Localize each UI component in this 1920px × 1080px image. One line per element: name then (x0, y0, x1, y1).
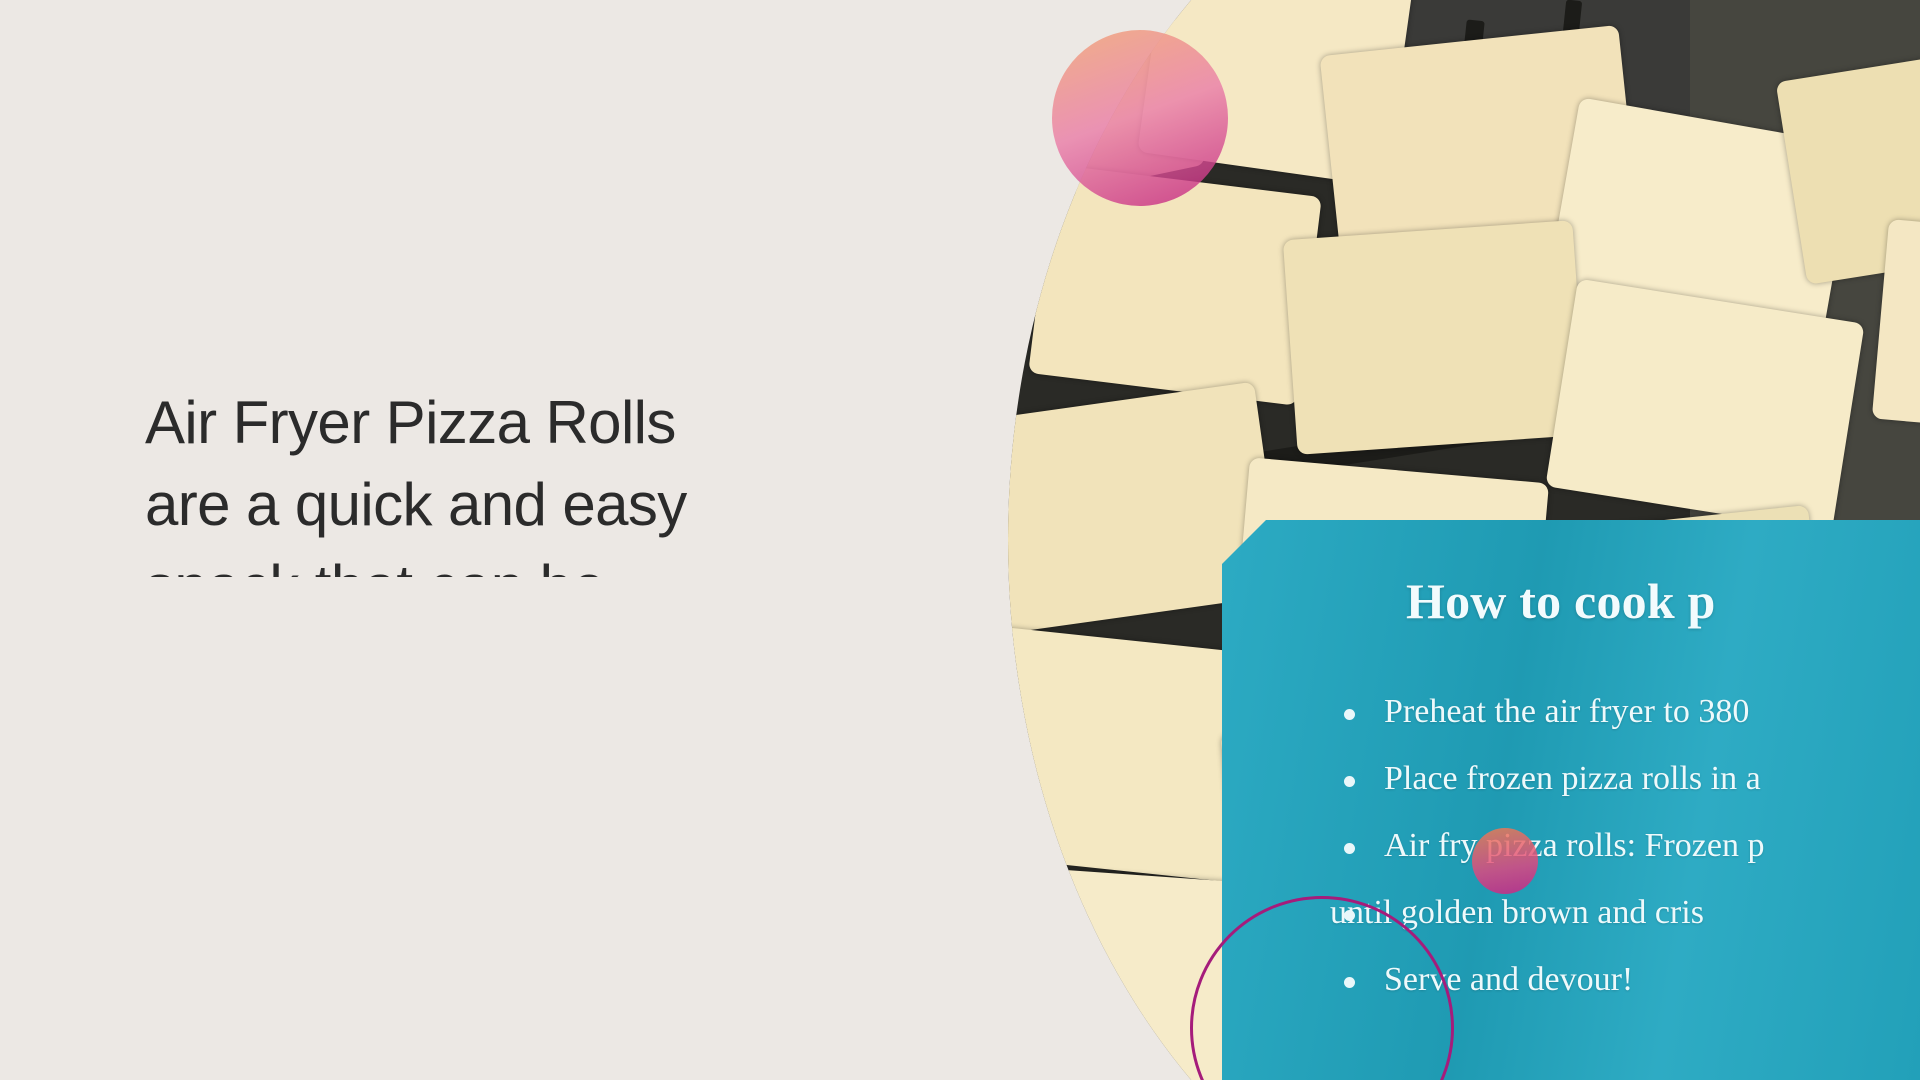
gradient-circle-icon (1052, 30, 1228, 206)
presentation-slide: How to cook p Preheat the air fryer to 3… (0, 0, 1920, 1080)
photo-shape (1283, 220, 1587, 455)
slide-body-text[interactable]: Air Fryer Pizza Rolls are a quick and ea… (145, 382, 885, 577)
photo-shape (1028, 164, 1322, 405)
list-item-continuation: until golden brown and cris (1330, 879, 1920, 946)
card-title: How to cook p (1406, 572, 1716, 630)
text-line-3: snack that can be (145, 546, 885, 577)
text-line-2: are a quick and easy (145, 464, 885, 546)
list-item: Preheat the air fryer to 380 (1330, 678, 1920, 745)
photo-shape (1545, 279, 1864, 532)
gradient-dot-icon (1472, 828, 1538, 894)
text-line-1: Air Fryer Pizza Rolls (145, 382, 885, 464)
list-item: Place frozen pizza rolls in a (1330, 745, 1920, 812)
list-item: Air fry pizza rolls: Frozen p (1330, 812, 1920, 879)
text-line-2-label: are a quick and easy (145, 471, 687, 538)
